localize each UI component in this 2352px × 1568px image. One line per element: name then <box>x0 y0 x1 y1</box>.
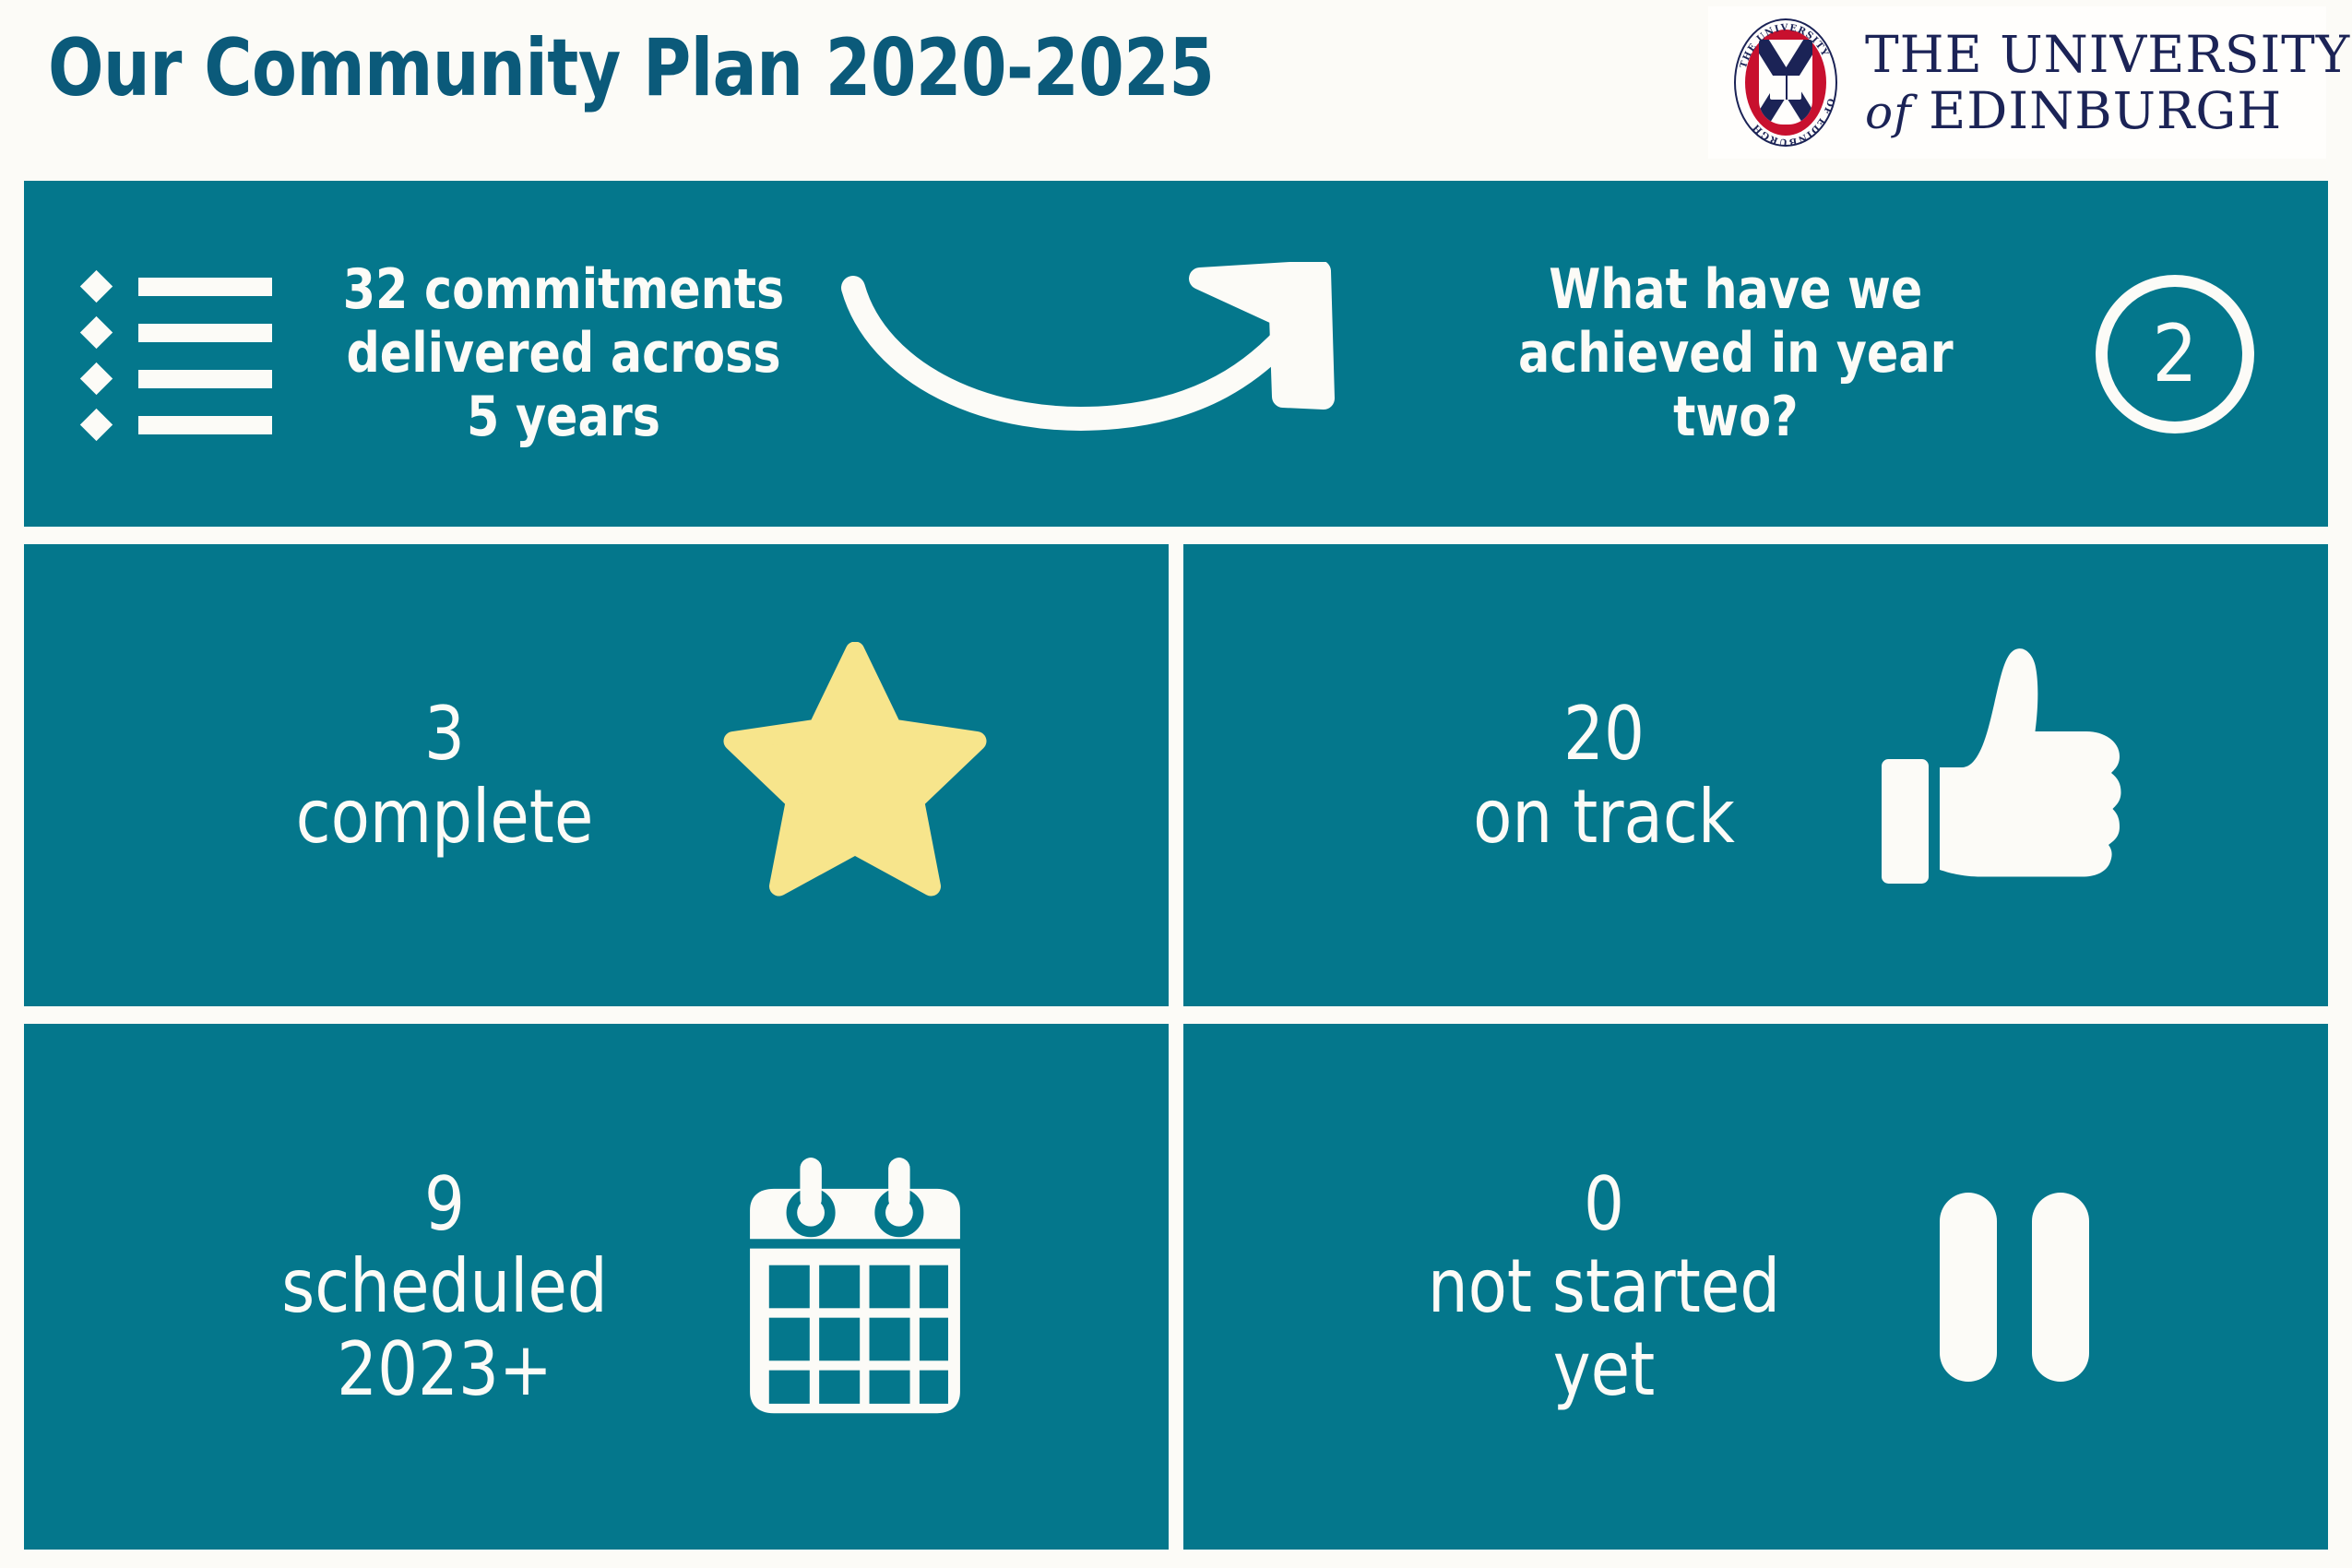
year-number-badge: 2 <box>2096 275 2254 434</box>
university-wordmark-line2: of EDINBURGH <box>1865 86 2350 137</box>
stat-number-on-track: 20 <box>1356 693 1852 776</box>
pause-icon <box>1862 1134 2167 1439</box>
bulleted-list-icon <box>83 272 272 436</box>
commitments-summary-text: 32 commitments delivered across 5 years <box>312 258 814 449</box>
stat-number-not-started: 0 <box>1356 1163 1852 1246</box>
stat-number-complete: 3 <box>196 693 693 776</box>
commitments-line-3: 5 years <box>312 386 814 449</box>
thumbs-up-icon <box>1862 624 2167 928</box>
infographic-grid: 32 commitments delivered across 5 years … <box>24 181 2328 1550</box>
stat-label-scheduled-2: 2023+ <box>196 1328 693 1411</box>
stat-cell-not-started: 0 not started yet <box>1183 1024 2328 1550</box>
stat-number-scheduled: 9 <box>196 1163 693 1246</box>
stat-label-complete: complete <box>196 776 693 859</box>
curved-arrow-up-right-icon <box>831 257 1384 451</box>
page-title: Our Community Plan 2020-2025 <box>48 22 1214 114</box>
stat-label-not-started-2: yet <box>1356 1328 1852 1411</box>
achievement-question-text: What have we achieved in year two? <box>1406 258 2074 449</box>
stat-label-on-track: on track <box>1356 776 1852 859</box>
stat-cell-scheduled: 9 scheduled 2023+ <box>24 1024 1169 1550</box>
crest-ring-text: THE UNIVERSITY OF EDINBURGH <box>1732 16 1841 149</box>
svg-text:THE UNIVERSITY: THE UNIVERSITY <box>1739 23 1830 70</box>
stat-cell-on-track: 20 on track <box>1183 544 2328 1006</box>
university-wordmark-of: of <box>1865 86 1912 139</box>
question-line-1: What have we <box>1406 258 2065 322</box>
stat-text-not-started: 0 not started yet <box>1356 1163 1852 1411</box>
university-crest-icon: THE UNIVERSITY OF EDINBURGH <box>1732 16 1841 149</box>
stat-label-scheduled-1: scheduled <box>196 1245 693 1328</box>
question-line-3: two? <box>1406 386 2065 449</box>
pause-bar-right <box>2032 1193 2089 1382</box>
stat-text-complete: 3 complete <box>196 693 693 858</box>
university-wordmark: THE UNIVERSITY of EDINBURGH <box>1865 30 2350 137</box>
stat-label-not-started-1: not started <box>1356 1245 1852 1328</box>
university-of-edinburgh-logo: THE UNIVERSITY OF EDINBURGH THE UNIVERSI… <box>1708 6 2326 159</box>
svg-text:OF EDINBURGH: OF EDINBURGH <box>1751 97 1835 147</box>
star-icon <box>703 624 1007 928</box>
stat-cell-complete: 3 complete <box>24 544 1169 1006</box>
university-wordmark-edinburgh: EDINBURGH <box>1929 81 2282 140</box>
page-header: Our Community Plan 2020-2025 THE UNIVERS… <box>0 0 2352 171</box>
question-line-2: achieved in year <box>1406 322 2065 386</box>
calendar-icon <box>703 1134 1007 1439</box>
commitments-line-1: 32 commitments <box>312 258 814 322</box>
commitments-line-2: delivered across <box>312 322 814 386</box>
summary-banner: 32 commitments delivered across 5 years … <box>24 181 2328 527</box>
stat-text-scheduled: 9 scheduled 2023+ <box>196 1163 693 1411</box>
pause-bar-left <box>1940 1193 1997 1382</box>
stat-text-on-track: 20 on track <box>1356 693 1852 858</box>
university-wordmark-line1: THE UNIVERSITY <box>1865 30 2350 80</box>
